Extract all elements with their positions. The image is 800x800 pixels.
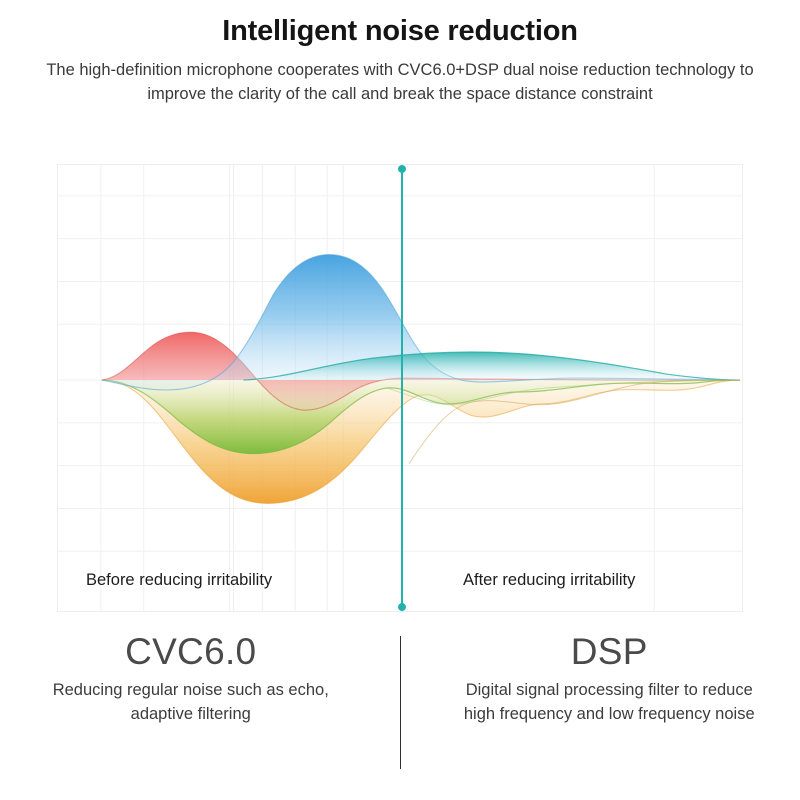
page-header: Intelligent noise reduction The high-def…	[0, 0, 800, 107]
page-subtitle: The high-definition microphone cooperate…	[35, 58, 765, 107]
feature-column-dsp: DSP Digital signal processing filter to …	[401, 628, 800, 726]
feature-column-cvc: CVC6.0 Reducing regular noise such as ec…	[0, 628, 400, 726]
feature-text-dsp: Digital signal processing filter to redu…	[454, 679, 764, 726]
chart-canvas	[58, 165, 742, 611]
feature-text-cvc: Reducing regular noise such as echo, ada…	[36, 679, 346, 726]
feature-heading-dsp: DSP	[419, 632, 800, 671]
chart-label-after: After reducing irritability	[463, 571, 635, 590]
noise-reduction-chart: Before reducing irritability After reduc…	[57, 164, 743, 612]
feature-heading-cvc: CVC6.0	[0, 632, 382, 671]
chart-label-before: Before reducing irritability	[86, 571, 272, 590]
page-title: Intelligent noise reduction	[0, 16, 800, 48]
feature-columns: CVC6.0 Reducing regular noise such as ec…	[0, 628, 800, 793]
